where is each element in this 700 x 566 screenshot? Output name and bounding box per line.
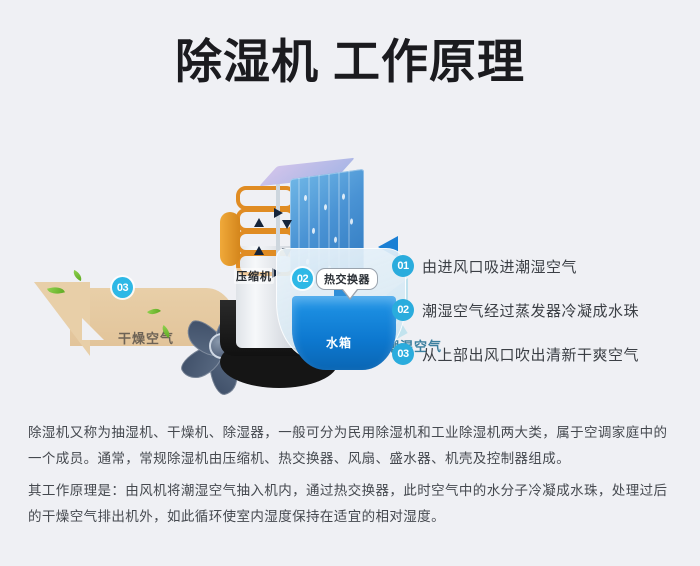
step-badge: 01 [392,255,414,277]
step-text: 潮湿空气经过蒸发器冷凝成水珠 [422,300,639,321]
step-text: 由进风口吸进潮湿空气 [422,256,577,277]
leaf-icon [71,270,84,281]
title-part-1: 除湿机 [175,35,319,88]
step-text: 从上部出风口吹出清新干爽空气 [422,344,639,365]
airflow-arrow [254,218,264,227]
airflow-arrow [254,246,264,255]
water-tank-label: 水箱 [326,334,352,351]
step-item: 02 潮湿空气经过蒸发器冷凝成水珠 [392,299,682,321]
description-paragraph-2: 其工作原理是：由风机将潮湿空气抽入机内，通过热交换器，此时空气中的水分子冷凝成水… [28,478,676,530]
dry-air-badge: 03 [112,277,133,298]
airflow-arrow [274,208,283,218]
step-item: 03 从上部出风口吹出清新干爽空气 [392,343,682,365]
heat-exchanger-callout: 热交换器 [316,268,378,290]
infographic-page: 除湿机工作原理 01 潮湿空气 干燥空气 03 [0,0,700,566]
airflow-arrow [282,220,292,229]
dry-air-arrow-notch [82,318,104,340]
heat-exchanger-badge: 02 [292,268,313,289]
water-tank [292,296,396,370]
step-item: 01 由进风口吸进潮湿空气 [392,255,682,277]
step-badge: 02 [392,299,414,321]
page-title: 除湿机工作原理 [0,32,700,92]
compressor-cylinder [220,212,240,266]
description-paragraph-1: 除湿机又称为抽湿机、干燥机、除湿器，一般可分为民用除湿机和工业除湿机两大类，属于… [28,420,676,472]
steps-list: 01 由进风口吸进潮湿空气 02 潮湿空气经过蒸发器冷凝成水珠 03 从上部出风… [392,255,682,387]
step-badge: 03 [392,343,414,365]
title-part-2: 工作原理 [333,35,525,88]
compressor-label: 压缩机 [234,268,274,284]
